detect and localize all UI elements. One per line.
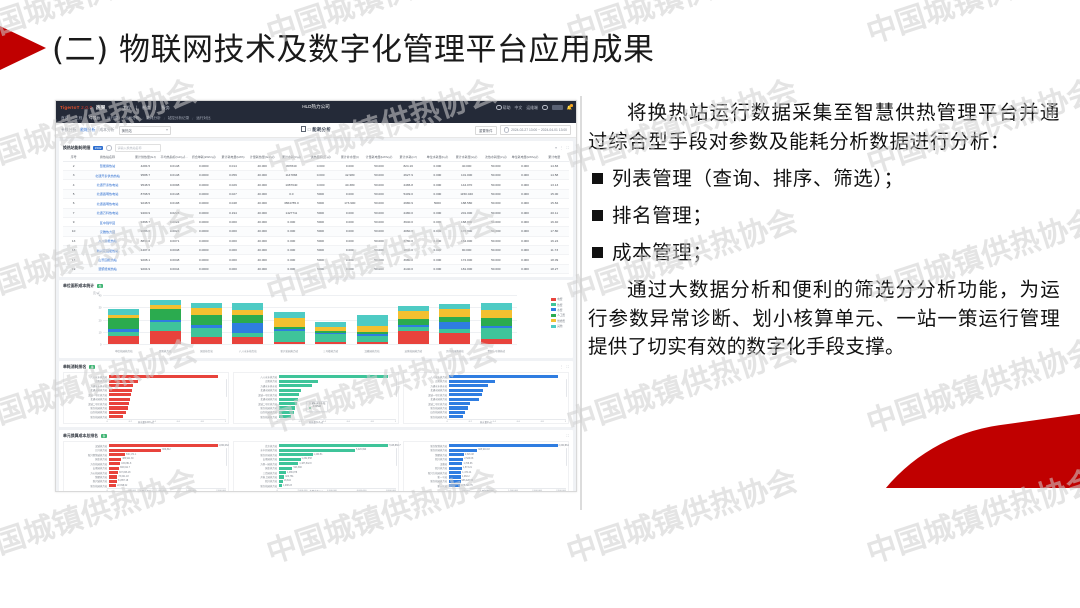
bar-value-label: 1,470.44 — [462, 472, 471, 474]
legend-label: 人工费 — [557, 313, 565, 317]
table-cell: 0.000 — [335, 236, 364, 245]
bar-category-label: 汉城二号区热力站 — [65, 402, 109, 406]
bar-row[interactable]: 万兴热力站900,842 — [65, 449, 227, 453]
table-cell: 0.000 — [423, 264, 452, 273]
bar-track — [109, 398, 227, 401]
breadcrumb-item-home[interactable]: 首页 — [61, 116, 68, 121]
x-axis-label: 耗水量(t/㎡) — [404, 420, 568, 424]
table-column-header[interactable]: 累计电量 — [540, 154, 569, 161]
bar-row[interactable]: 新兴热力站1,573.21 — [405, 466, 567, 470]
corner-mask — [750, 488, 1080, 608]
account-chip[interactable] — [552, 105, 563, 110]
bar-row[interactable]: 国金热力站523,666 — [235, 466, 397, 470]
table-row[interactable]: 17山景园能热站9208.10.00480.00000.00040.0000.0… — [63, 255, 569, 264]
bar-row[interactable]: 万通水水热水站 — [235, 384, 397, 388]
legend-item[interactable]: 电费 — [551, 297, 565, 301]
stacked-bar-column[interactable] — [315, 322, 346, 344]
table-cell: 16.40 — [540, 217, 569, 226]
bar-row[interactable]: 汉城二号区热力站 — [65, 402, 227, 406]
table-cell: 40.000 — [248, 264, 277, 273]
bar — [109, 398, 130, 401]
bar — [449, 389, 483, 392]
table-cell: 0.000 — [306, 161, 335, 170]
gridline: 0 — [103, 344, 517, 345]
breadcrumb-item-run-chart[interactable]: 运行图 — [107, 116, 118, 121]
bar-row[interactable]: 国金热力站486,911.30 — [65, 457, 227, 461]
bar-row[interactable]: 汉雅站1,708.66 — [405, 462, 567, 466]
bar-row[interactable]: 远兴花园热力站 — [65, 411, 227, 415]
square-bullet-icon — [592, 210, 603, 221]
chart-scrollbar[interactable] — [396, 448, 397, 466]
bar-category-label: 八八水水热力站 — [65, 375, 109, 379]
bar-value-label: 7,648,860.7 — [389, 445, 401, 447]
bar-row[interactable]: 万通水水热水站 — [65, 384, 227, 388]
bar-category-label: 汉城热力站 — [65, 444, 109, 448]
bar-row[interactable]: 新兴热力站18,602 — [235, 480, 397, 484]
bar — [279, 398, 299, 401]
bar-track — [449, 384, 567, 387]
bar-row[interactable]: 汉城一号区热力站 — [235, 393, 397, 397]
bar-track — [109, 415, 227, 418]
bar-row[interactable]: 新兴花园热力站 — [65, 406, 227, 410]
table-cell: 50.000 — [364, 161, 393, 170]
bar — [279, 375, 388, 378]
bar: 415,881.8 — [109, 462, 120, 465]
stacked-bar-column[interactable] — [357, 315, 388, 344]
bar-category-label: 北通水园热力站 — [235, 388, 279, 392]
table-cell: 9368.7 — [131, 217, 160, 226]
table-column-header[interactable]: 计量耗热量(GJ/㎡) — [248, 154, 277, 161]
table-cell: 5000 — [306, 199, 335, 208]
table-cell: 0.0228 — [160, 208, 189, 217]
bar-track — [279, 411, 397, 414]
panel-heading-text: □ 能耗分析 — [308, 128, 331, 133]
table-cell: 0.0 — [277, 189, 306, 198]
bar-track: 396,611.7 — [109, 467, 227, 470]
table-column-header[interactable]: 累计供热量(GJ) — [131, 154, 160, 161]
table-cell: 0.000 — [423, 189, 452, 198]
language-action[interactable]: 中文 — [514, 105, 522, 111]
table-search-input[interactable]: 请输入换热站名称 — [115, 144, 161, 152]
table-cell: 5000 — [306, 189, 335, 198]
table-cell: 0.000 — [423, 171, 452, 180]
bar-row[interactable]: 山景园热力站1,262,658 — [235, 457, 397, 461]
table-column-header[interactable]: 累计水耗(m³) — [394, 154, 423, 161]
bar-segment — [315, 342, 346, 344]
bar-row[interactable]: 北通水园热力站 — [65, 397, 227, 401]
slide-root: (二) 物联网技术及数字化管理平台应用成果 将换热站运行数据采集至智慧供热管理平… — [0, 0, 1080, 608]
table-cell: 0.0048 — [160, 255, 189, 264]
bar-row[interactable]: 北通水园热力站 — [65, 388, 227, 392]
table-cell: 50.000 — [481, 246, 510, 255]
fullscreen-icon[interactable]: ⛶ — [566, 146, 569, 150]
x-tick-label: 世纪一号换热站 — [481, 349, 512, 353]
table-row[interactable]: 10汉雅热力园9083.00.00240.00000.00040.0000.00… — [63, 227, 569, 236]
table-cell: 40.000 — [248, 208, 277, 217]
table-row[interactable]: 4北通开泰热电站9548.50.00980.00000.02940.000108… — [63, 180, 569, 189]
table-row[interactable]: 13八八新能热站8890.00.00710.00000.00040.0000.0… — [63, 236, 569, 245]
y-tick-label: 40 — [99, 295, 102, 298]
bar-value-label: 2,526.08 — [465, 454, 474, 456]
energy-detail-table: 序号换热站名称累计供热量(GJ)平均热指标(GJ/(㎡·℃·h))折合单耗(kW… — [63, 154, 569, 274]
nav-item-manufacturing[interactable]: 制造 — [142, 105, 150, 111]
bar-row[interactable]: 北通水园热力站 — [405, 388, 567, 392]
bar — [449, 380, 496, 383]
bar-row[interactable]: 北通水园热力站 — [235, 388, 397, 392]
bar-track: 307,846.18 — [109, 471, 227, 474]
table-cell: 50.000 — [364, 236, 393, 245]
bar-track: 1,487,842.8 — [279, 462, 397, 465]
rank-card-title: 单耗消耗排名 — [63, 364, 86, 370]
bar-row[interactable]: 八八水水热力站 — [65, 375, 227, 379]
table-cell: 0.000 — [335, 189, 364, 198]
bar-row[interactable]: 新一号站1,082.2 — [405, 475, 567, 479]
table-cell: 15.00 — [540, 189, 569, 198]
table-cell: 5000 — [306, 227, 335, 236]
bar-row[interactable]: 新兴花园热力站986,428.56 — [405, 480, 567, 484]
stacked-bar-column[interactable] — [439, 304, 470, 344]
bar-row[interactable]: 慧聚热力站2,526.08 — [405, 453, 567, 457]
breadcrumb-item-control-center[interactable]: 中控台 — [89, 116, 100, 121]
table-cell: 14.58 — [540, 171, 569, 180]
table-column-header[interactable]: 累计水耗(t/㎡) — [277, 154, 306, 161]
table-row[interactable]: 16新兴花园能热站4407.00.00480.00000.00040.0000.… — [63, 246, 569, 255]
bar-row[interactable]: 新兴大花园热力站1,470.44 — [405, 471, 567, 475]
breadcrumb-item-station-records[interactable]: 站控分析记录 — [168, 116, 190, 121]
table-column-header[interactable]: 计量耗电量(kWh/㎡) — [364, 154, 393, 161]
table-cell: 5000 — [306, 246, 335, 255]
user-icon[interactable] — [542, 105, 548, 111]
filter-icon[interactable]: ▾ — [555, 146, 557, 150]
table-column-header[interactable]: 单位水耗量(t/㎡) — [423, 154, 452, 161]
table-cell: 40.000 — [248, 180, 277, 189]
bar-row[interactable]: 新兴开园热力站928,910.18 — [405, 449, 567, 453]
bar-track — [279, 384, 397, 387]
table-cell: 5000 — [423, 199, 452, 208]
table-cell: 50.000 — [364, 180, 393, 189]
chart-scrollbar[interactable] — [566, 448, 567, 466]
bar-row[interactable]: 新兴开园热力站1,469.51 — [235, 453, 397, 457]
app-top-nav: TigerIoT 2.0.0 热服 工程 | 制造 | 服务 HLD热力公司 帮… — [56, 101, 576, 114]
table-cell: 50.000 — [481, 171, 510, 180]
table-column-header[interactable]: 次热水耗量(t/㎡) — [481, 154, 510, 161]
bar-row[interactable]: 新兴花园热力站1,088.23 — [235, 484, 397, 488]
bar: 18,602 — [279, 480, 283, 483]
bar-value-label: 1,486,878 — [287, 472, 297, 474]
table-cell: 0.029 — [218, 180, 247, 189]
table-cell: 5000 — [306, 255, 335, 264]
bar-category-label: 新兴花园热力站 — [405, 479, 449, 483]
y-tick-label: 10 — [99, 331, 102, 334]
bar-row[interactable]: 八八水水热力站 — [405, 375, 567, 379]
breadcrumb-item-energy-analysis[interactable]: 能耗分析 — [146, 116, 160, 121]
breadcrumb-item-run-compare[interactable]: 运行对比 — [196, 116, 210, 121]
fullscreen-icon[interactable]: ⛶ — [566, 365, 569, 369]
stacked-bar-column[interactable] — [398, 306, 429, 345]
bar — [109, 375, 218, 378]
table-cell: 18.09 — [540, 255, 569, 264]
table-header-row: 序号换热站名称累计供热量(GJ)平均热指标(GJ/(㎡·℃·h))折合单耗(kW… — [63, 154, 569, 161]
bar-track — [109, 411, 227, 414]
table-row[interactable]: 7北通万科热电站9400.90.02280.00000.19440.000142… — [63, 208, 569, 217]
bar-row[interactable]: 开南上园热力站920,781 — [235, 475, 397, 479]
bar-row[interactable]: 新兴智慧热力站2,360,864 — [405, 444, 567, 448]
bar-track: 18,602 — [279, 480, 397, 483]
ops-console-action[interactable]: 运维端 — [526, 105, 538, 111]
record-count-badge: 1502 — [93, 146, 103, 150]
table-row[interactable]: 2慧能换热站4284.50.01480.00000.01440.00080784… — [63, 161, 569, 170]
table-cell: 40.380 — [335, 180, 364, 189]
bar-track: 73,641.18 — [109, 475, 227, 478]
bar-value-label: 1,573.21 — [463, 467, 472, 469]
table-cell: 50.000 — [481, 161, 510, 170]
table-cell: 50.000 — [364, 246, 393, 255]
table-cell: 0.000 — [277, 246, 306, 255]
nav-item-service[interactable]: 服务 — [161, 105, 169, 111]
bar — [279, 393, 299, 396]
bar-track: 54,857.18 — [109, 480, 227, 483]
table-row[interactable]: 6北通昌明热电站9248.50.01980.00000.04840.000386… — [63, 199, 569, 208]
bar: 1,487,842.8 — [279, 462, 299, 465]
legend-item[interactable]: 维修费 — [551, 319, 565, 323]
table-row[interactable]: 5北通昌明热电站8798.50.01480.00000.02740.0000.0… — [63, 189, 569, 198]
table-cell: 0.0071 — [160, 236, 189, 245]
bar-row[interactable]: 水丰开园热力站5,420,990 — [235, 449, 397, 453]
table-column-header[interactable]: 累计补水量(t) — [335, 154, 364, 161]
bar-row[interactable]: 山景园热力站396,611.7 — [65, 466, 227, 470]
chart-scrollbar[interactable] — [226, 379, 227, 397]
bar-category-label: 新兴花园热力站 — [65, 484, 109, 488]
table-cell: 9400.9 — [131, 208, 160, 217]
app-logo[interactable]: TigerIoT 2.0.0 热服 — [60, 105, 105, 111]
bar-category-label: 新兴智慧城热力站 — [65, 453, 109, 457]
fullscreen-icon[interactable]: ⛶ — [566, 434, 569, 438]
bar-row[interactable]: 北京热力站7,648,860.7 — [235, 444, 397, 448]
chart-type-badge: 条 — [89, 365, 95, 369]
table-cell: 2627.9 — [394, 171, 423, 180]
bar-row[interactable]: 正阳热力站 — [65, 380, 227, 384]
bar-category-label: 新兴花园热力站 — [235, 406, 279, 410]
bar-row[interactable]: 汉城一号区热力站 — [65, 393, 227, 397]
bar-row[interactable]: 新兴花园热力站 — [405, 406, 567, 410]
legend-item[interactable]: 其他 — [551, 324, 565, 328]
bar-row[interactable]: 万景一园热力站1,487,842.8 — [235, 462, 397, 466]
table-cell: 50.000 — [481, 199, 510, 208]
table-column-header[interactable]: 换热站名称 — [84, 154, 131, 161]
bar-row[interactable]: 新兴城热力站54,857.18 — [65, 480, 227, 484]
settings-icon[interactable]: ⋮ — [560, 146, 564, 150]
bar-row[interactable]: 新兴花园热力站22,998.02 — [65, 484, 227, 488]
bar-category-label: 山景园热力站 — [235, 457, 279, 461]
y-tick-label: 20 — [99, 319, 102, 322]
bar-row[interactable]: 汉城二号区热力站 — [405, 402, 567, 406]
table-cell: 慧能换热站 — [84, 161, 131, 170]
table-cell: 9548.5 — [131, 180, 160, 189]
table-cell: 5000 — [306, 217, 335, 226]
table-column-header[interactable]: 平均热指标(GJ/(㎡·℃·h)) — [160, 154, 189, 161]
bar-category-label: 万通水水热水站 — [235, 384, 279, 388]
table-cell: 176.000 — [452, 227, 481, 236]
bar-value-label: 1,487,842.8 — [299, 463, 311, 465]
table-cell: 0.000 — [423, 217, 452, 226]
bar-row[interactable]: 万心花园热力站307,846.18 — [65, 471, 227, 475]
bar-row[interactable]: 新兴花园热力站 — [65, 415, 227, 419]
table-column-header[interactable]: 折合单耗(kWh/㎡) — [189, 154, 218, 161]
stacked-bar-column[interactable] — [481, 303, 512, 344]
bar-row[interactable]: 三台园热力站1,486,878 — [235, 471, 397, 475]
bullet-item-rank-management: 排名管理； — [592, 202, 1060, 230]
bar-row[interactable]: 万通水水热水站 — [405, 384, 567, 388]
table-cell: 40.000 — [452, 161, 481, 170]
legend-swatch — [551, 314, 556, 317]
help-label: 帮助 — [503, 105, 511, 111]
bar-row[interactable]: 汉城热力站1,860,462 — [65, 444, 227, 448]
table-cell: 50.000 — [481, 189, 510, 198]
bar-track: 1,470.44 — [449, 471, 567, 474]
bar-row[interactable]: 新兴花园热力站 — [235, 415, 397, 419]
table-cell: 2480.0 — [394, 208, 423, 217]
table-cell: 40.000 — [248, 236, 277, 245]
nav-item-engineering[interactable]: 工程 — [122, 105, 130, 111]
refresh-icon[interactable] — [106, 145, 112, 151]
breadcrumb-sep: / — [164, 117, 165, 121]
bar: 22,998.02 — [109, 484, 116, 487]
chart-type-badge: 条 — [101, 434, 107, 438]
bar-row[interactable]: 北通水园热力站 — [405, 397, 567, 401]
bar-value-label: 307,846.18 — [119, 472, 131, 474]
bar: 1,082.2 — [449, 475, 461, 478]
table-column-header[interactable]: 累计水耗量(t/㎡) — [452, 154, 481, 161]
bar-segment — [191, 328, 222, 338]
bar-row[interactable]: 汉城一号区热力站 — [405, 393, 567, 397]
chart-type-badge: 柱 — [97, 284, 103, 288]
table-cell: 0.000 — [423, 208, 452, 217]
bar-category-label: 新兴花园热力站 — [405, 406, 449, 410]
bar-segment — [108, 336, 139, 345]
bar: 2,360,864 — [449, 444, 558, 447]
table-cell: 9083.0 — [131, 227, 160, 236]
nav-menu: 工程 | 制造 | 服务 — [122, 105, 169, 111]
bar-track — [449, 380, 567, 383]
stacked-chart-bars — [103, 295, 517, 344]
bar-row[interactable]: 远兴花园热力站 — [405, 411, 567, 415]
breadcrumb-item-run-analysis[interactable]: 运行分析 — [125, 116, 139, 121]
text-column: 将换热站运行数据采集至智慧供热管理平台并通过综合型手段对参数及能耗分析数据进行分… — [588, 98, 1060, 362]
bar-track — [279, 398, 397, 401]
bar-row[interactable]: 新兴热力站2,526.08 — [405, 457, 567, 461]
consumption-rank-card: 单耗消耗排名 条 ⋮ ⛶ 八八水水热力站正阳热力站万通水水热水站北通水园热力站汉… — [59, 361, 573, 427]
bar-category-label: 北通水园热力站 — [405, 388, 449, 392]
breadcrumb-item-engineering[interactable]: 工程 — [75, 116, 82, 121]
bar: 396,611.7 — [109, 467, 119, 470]
table-row[interactable]: 19慧聚能城热站9204.90.00440.00000.00040.0000.0… — [63, 264, 569, 273]
horizontal-bar-chart: 汉城热力站1,860,462万兴热力站900,842新兴智慧城热力站530,17… — [63, 441, 229, 492]
table-cell: 3864785.0 — [277, 199, 306, 208]
table-cell: 0.000 — [335, 246, 364, 255]
table-row[interactable]: 9区中锦华园9368.70.00240.00000.00040.0000.000… — [63, 217, 569, 226]
bar-category-label: 汉城二号区热力站 — [235, 402, 279, 406]
x-tick-label: 远驰花园热力站 — [398, 349, 429, 353]
table-cell: 0.0000 — [189, 189, 218, 198]
bar-track — [109, 393, 227, 396]
bar-row[interactable]: 慧聚热力站73,641.18 — [65, 475, 227, 479]
bar-category-label: 新兴开园热力站 — [405, 448, 449, 452]
table-cell: 50.000 — [364, 227, 393, 236]
bullet-label: 成本管理； — [612, 239, 713, 267]
legend-item[interactable]: 水费 — [551, 308, 565, 312]
bar-track: 486,911.30 — [109, 458, 227, 461]
filter-bar: 参数分析 能耗分析 成本分析 换热站 □ 能耗分析 重置条件 2024-02-2… — [56, 123, 576, 138]
table-column-header[interactable]: 累计耗电量(kWh) — [218, 154, 247, 161]
table-cell: 0.0000 — [189, 246, 218, 255]
bar-row[interactable]: 正阳热力站 — [235, 380, 397, 384]
table-column-header[interactable]: 单位耗电量(kWh/㎡) — [510, 154, 539, 161]
legend-item[interactable]: 热费 — [551, 303, 565, 307]
stacked-bar-column[interactable] — [150, 300, 181, 344]
stacked-bar-column[interactable] — [232, 303, 263, 344]
stacked-bar-column[interactable] — [108, 309, 139, 345]
breadcrumb-sep: / — [121, 117, 122, 121]
bar-track — [109, 406, 227, 409]
bar-row[interactable]: 八八水水热力站 — [235, 375, 397, 379]
x-tick-label: 新兴花园热力站 — [274, 349, 305, 353]
notification-bell-icon[interactable]: 🔔 — [567, 105, 572, 111]
table-cell: 0.000 — [218, 217, 247, 226]
table-cell: 8798.5 — [131, 189, 160, 198]
table-cell: 0.0000 — [189, 217, 218, 226]
chart-scrollbar[interactable] — [226, 448, 227, 466]
bar-track: 1,469.51 — [279, 453, 397, 456]
chart-scrollbar[interactable] — [396, 379, 397, 397]
bar-category-label: 新兴开园热力站 — [235, 453, 279, 457]
help-action[interactable]: 帮助 — [496, 105, 510, 111]
bar: 1,860,462 — [109, 444, 218, 447]
bar-track: 530,174.1 — [109, 453, 227, 456]
table-row[interactable]: 3北通开泰供热热站9588.70.01480.00000.05940.00011… — [63, 171, 569, 180]
table-column-header[interactable]: 序号 — [63, 154, 84, 161]
bar: 54,857.18 — [109, 480, 117, 483]
legend-item[interactable]: 人工费 — [551, 313, 565, 317]
bar — [449, 375, 558, 378]
closing-paragraph: 通过大数据分析和便利的筛选分分析功能，为运行参数异常诊断、划小核算单元、一站一策… — [588, 276, 1060, 362]
legend-label: 电费 — [557, 297, 562, 301]
settings-icon[interactable]: ⋮ — [560, 365, 564, 369]
stacked-bar-column[interactable] — [274, 312, 305, 344]
chart-scrollbar[interactable] — [566, 379, 567, 397]
table-cell: 0.0000 — [189, 236, 218, 245]
x-tick-label: 八八水水热力站 — [232, 349, 263, 353]
stacked-bar-column[interactable] — [191, 302, 222, 344]
table-cell: 0.000 — [335, 264, 364, 273]
unit-area-cost-card: 单位面积成本统计 柱 元/㎡ 403020100 中信花园热力站正阳热力站国金热… — [59, 280, 573, 358]
bar-segment — [232, 337, 263, 344]
table-column-header[interactable]: 供热面积(万㎡) — [306, 154, 335, 161]
bar-row[interactable]: 新兴花园热力站 — [405, 415, 567, 419]
table-cell: 9 — [63, 217, 84, 226]
bar-category-label: 万通水水热水站 — [65, 384, 109, 388]
table-cell: 0.000 — [306, 180, 335, 189]
bar-track — [449, 406, 567, 409]
table-cell: 慧聚能城热站 — [84, 264, 131, 273]
bar-row[interactable]: 新一号站978,821.76 — [405, 484, 567, 488]
panel-heading: □ 能耗分析 — [56, 126, 576, 133]
bar: 1,708.66 — [449, 462, 463, 465]
bar-row[interactable]: 正阳热力站 — [405, 380, 567, 384]
bar-row[interactable]: 万兴花园热力站415,881.8 — [65, 462, 227, 466]
table-cell: 50.000 — [364, 255, 393, 264]
help-icon — [496, 105, 502, 111]
bar-row[interactable]: 新兴智慧城热力站530,174.1 — [65, 453, 227, 457]
